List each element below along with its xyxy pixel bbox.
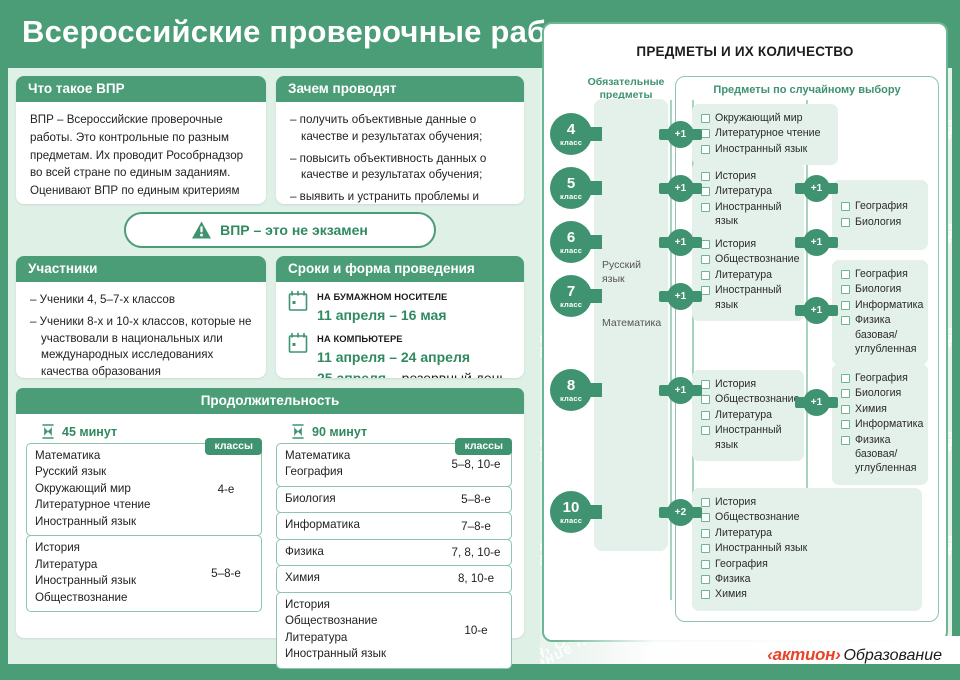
plus-badge: +1 [667, 229, 694, 256]
card-what-body: ВПР – Всероссийские проверочные работы. … [16, 102, 266, 204]
duration-group: Математика Русский язык Окружающий мир Л… [26, 443, 262, 536]
card-what-is-vpr: Что такое ВПР ВПР – Всероссийские провер… [16, 76, 266, 204]
subject-item: Информатика [841, 298, 919, 312]
grade-number: 4 [567, 122, 575, 137]
grade-number: 8 [567, 378, 575, 393]
subject-box-grade8: История Обществознание Литература Иностр… [692, 370, 804, 461]
required-subjects-column: Русскийязык Математика [594, 99, 668, 551]
plus-badge: +1 [803, 389, 830, 416]
grade-word: класс [560, 394, 582, 403]
grade-word: класс [560, 138, 582, 147]
subjects-panel-title: ПРЕДМЕТЫ И ИХ КОЛИЧЕСТВО [544, 44, 946, 59]
subject: Обществознание [285, 613, 441, 629]
group-classes: 5–8-е [441, 487, 511, 512]
duration-group: Химия 8, 10-е [276, 565, 512, 592]
card-participants-heading: Участники [16, 256, 266, 282]
grade-circle-7[interactable]: 7 класс [550, 275, 592, 317]
duration-col-45: 45 минут классы Математика Русский язык … [26, 422, 262, 669]
plus-badge: +1 [667, 377, 694, 404]
duration-45-label: 45 минут [62, 425, 117, 439]
reserve-date: 25 апреля [317, 370, 386, 378]
subject: Литература [35, 557, 191, 573]
warning-text: ВПР – это не экзамен [220, 222, 368, 238]
reserve-day-row: 25 апреля – резервный день [317, 368, 507, 378]
plus-badge: +1 [667, 121, 694, 148]
subject-box-grade4: Окружающий мир Литературное чтение Иност… [692, 104, 838, 165]
card-why-conducted: Зачем проводят – получить объективные да… [276, 76, 524, 204]
classes-badge: классы [455, 438, 512, 455]
card-participants: Участники – Ученики 4, 5–7-х классов – У… [16, 256, 266, 378]
plus-badge: +2 [667, 499, 694, 526]
what-line: предметам. Их проводит Рособрнадзор [30, 148, 252, 165]
subject: История [35, 540, 191, 556]
subject-item: География [701, 557, 913, 571]
group-classes: 5–8-е [191, 536, 261, 611]
plus-badge: +1 [667, 283, 694, 310]
subject: Окружающий мир [35, 481, 191, 497]
group-subjects: История Литература Иностранный язык Обще… [27, 536, 191, 611]
reserve-label: – резервный день [386, 370, 507, 378]
group-classes: 7, 8, 10-е [441, 540, 511, 565]
subject-item: Химия [841, 402, 919, 416]
subject-item: Литературное чтение [701, 126, 829, 140]
subject-item: История [701, 377, 795, 391]
subject-item: Литература [701, 408, 795, 422]
subject-item: Информатика [841, 417, 919, 431]
duration-45-title: 45 минут [42, 424, 262, 439]
plus-badge: +1 [803, 297, 830, 324]
required-subject: Математика [602, 317, 661, 331]
subject: Математика [35, 448, 191, 464]
what-line: Оценивают ВПР по единым критериям [30, 183, 252, 200]
duration-group: Физика 7, 8, 10-е [276, 539, 512, 566]
what-line: ВПР – Всероссийские проверочные [30, 112, 252, 129]
subject: История [285, 597, 441, 613]
duration-group: Информатика 7–8-е [276, 512, 512, 539]
grade-word: класс [560, 300, 582, 309]
card-dates: Сроки и форма проведения НА БУМАЖНОМ НОС… [276, 256, 524, 378]
subject: Литературное чтение [35, 497, 191, 513]
subject-item: Биология [841, 215, 919, 229]
grade-circle-8[interactable]: 8 класс [550, 369, 592, 411]
left-edge-band [0, 0, 8, 680]
subject-item: Литература [701, 526, 913, 540]
subject-item: Окружающий мир [701, 111, 829, 125]
subject-item: Иностранныйязык [701, 200, 795, 229]
computer-label: НА КОМПЬЮТЕРЕ [317, 332, 507, 346]
subject: Иностранный язык [35, 514, 191, 530]
card-participants-body: – Ученики 4, 5–7-х классов – Ученики 8-х… [16, 282, 266, 378]
duration-90-title: 90 минут [292, 424, 512, 439]
why-item: – выявить и устранить проблемы и пробелы… [290, 189, 510, 204]
subject-item: Химия [701, 587, 913, 601]
hourglass-icon [292, 424, 304, 439]
subject-box-grade10: История Обществознание Литература Иностр… [692, 488, 922, 611]
grade-word: класс [560, 192, 582, 201]
required-subject: Русскийязык [602, 259, 641, 286]
group-subjects: Химия [277, 566, 441, 591]
grade-word: класс [560, 516, 582, 525]
subject-box-grade7-right: География Биология Информатика Физикабаз… [832, 260, 928, 365]
brand-logo: ‹актион› Образование [767, 645, 942, 665]
right-edge-band [952, 0, 960, 680]
group-subjects: Физика [277, 540, 441, 565]
classes-badge: классы [205, 438, 262, 455]
plus-badge: +1 [667, 175, 694, 202]
group-subjects: Информатика [277, 513, 441, 538]
subject-item: Физикабазовая/углубленная [841, 433, 919, 476]
duration-group: История Литература Иностранный язык Обще… [26, 535, 262, 612]
subject-item: Иностранный язык [701, 142, 829, 156]
why-item: – повысить объективность данных о качест… [290, 151, 510, 185]
participants-item: – Ученики 8-х и 10-х классов, которые не… [30, 314, 252, 378]
card-why-heading: Зачем проводят [276, 76, 524, 102]
subject-box-grade5: История Литература Иностранныйязык [692, 162, 804, 238]
date-row-paper: НА БУМАЖНОМ НОСИТЕЛЕ 11 апреля – 16 мая [288, 290, 512, 325]
grade-number: 7 [567, 284, 575, 299]
plus-badge: +1 [803, 229, 830, 256]
card-dates-heading: Сроки и форма проведения [276, 256, 524, 282]
subject: Химия [285, 570, 441, 586]
computer-dates: 11 апреля – 24 апреля [317, 347, 507, 367]
paper-label: НА БУМАЖНОМ НОСИТЕЛЕ [317, 290, 447, 304]
subject: Биология [285, 491, 441, 507]
plus-badge: +1 [803, 175, 830, 202]
subject: Русский язык [35, 464, 191, 480]
subject: География [285, 464, 441, 480]
subject-item: История [701, 169, 795, 183]
subject-item: Физикабазовая/углубленная [841, 313, 919, 356]
group-classes: 7–8-е [441, 513, 511, 538]
card-what-heading: Что такое ВПР [16, 76, 266, 102]
page-title: Всероссийские проверочные работы [22, 14, 607, 50]
participants-item: – Ученики 4, 5–7-х классов [30, 292, 252, 309]
subject-item: Иностранный язык [701, 541, 913, 555]
subject: Информатика [285, 517, 441, 533]
subject-item: География [841, 371, 919, 385]
subject-item: Физика [701, 572, 913, 586]
subject-item: Обществознание [701, 392, 795, 406]
grade-circle-5[interactable]: 5 класс [550, 167, 592, 209]
hourglass-icon [42, 424, 54, 439]
subject-item: Биология [841, 386, 919, 400]
subject: Физика [285, 544, 441, 560]
duration-group: Биология 5–8-е [276, 486, 512, 513]
duration-90-label: 90 минут [312, 425, 367, 439]
subject-item: Иностранныйязык [701, 283, 795, 312]
group-classes: 8, 10-е [441, 566, 511, 591]
date-row-computer: НА КОМПЬЮТЕРЕ 11 апреля – 24 апреля 25 а… [288, 332, 512, 378]
calendar-icon [288, 332, 308, 354]
grade-number: 6 [567, 230, 575, 245]
subject-item: Литература [701, 268, 795, 282]
subjects-panel: ПРЕДМЕТЫ И ИХ КОЛИЧЕСТВО Обязательные пр… [542, 22, 948, 642]
subject-item: Обществознание [701, 510, 913, 524]
subject-box-grade8-right: География Биология Химия Информатика Физ… [832, 364, 928, 485]
duration-col-90: 90 минут классы Математика География 5–8… [276, 422, 512, 669]
why-item: – получить объективные данные о качестве… [290, 112, 510, 146]
duration-block: Продолжительность 45 минут классы Матема… [16, 388, 524, 638]
subject-item: История [701, 237, 795, 251]
subject-item: География [841, 199, 919, 213]
warning-banner: ВПР – это не экзамен [124, 212, 436, 248]
grade-circle-4[interactable]: 4 класс [550, 113, 592, 155]
warning-triangle-icon [192, 221, 211, 239]
subject-item: Иностранныйязык [701, 423, 795, 452]
connector-line-left [670, 100, 672, 600]
subject: Иностранный язык [35, 573, 191, 589]
calendar-icon [288, 290, 308, 312]
logo-brand: ‹актион› [767, 645, 840, 665]
grade-number: 5 [567, 176, 575, 191]
card-dates-body: НА БУМАЖНОМ НОСИТЕЛЕ 11 апреля – 16 мая … [276, 282, 524, 378]
subject-box-geo-bio-56: География Биология [832, 180, 928, 250]
duration-heading: Продолжительность [16, 388, 524, 414]
what-line: во всей стране по единым заданиям. [30, 165, 252, 182]
subject-item: Литература [701, 184, 795, 198]
group-subjects: Математика Русский язык Окружающий мир Л… [27, 444, 191, 535]
grade-word: класс [560, 246, 582, 255]
subject-box-grade67: История Обществознание Литература Иностр… [692, 230, 804, 321]
subject-item: Биология [841, 282, 919, 296]
what-line: работы. Это контрольные по разным [30, 130, 252, 147]
subject-item: История [701, 495, 913, 509]
grade-number: 10 [563, 500, 580, 515]
paper-dates: 11 апреля – 16 мая [317, 305, 447, 325]
subject-item: География [841, 267, 919, 281]
logo-word: Образование [843, 647, 942, 665]
grade-circle-10[interactable]: 10 класс [550, 491, 592, 533]
subject-item: Обществознание [701, 252, 795, 266]
subject: Обществознание [35, 590, 191, 606]
subject: Математика [285, 448, 441, 464]
random-column-label: Предметы по случайному выбору [675, 84, 939, 98]
group-subjects: Биология [277, 487, 441, 512]
grade-circle-6[interactable]: 6 класс [550, 221, 592, 263]
group-subjects: Математика География [277, 444, 441, 486]
group-classes: 4-е [191, 444, 261, 535]
card-why-body: – получить объективные данные о качестве… [276, 102, 524, 204]
